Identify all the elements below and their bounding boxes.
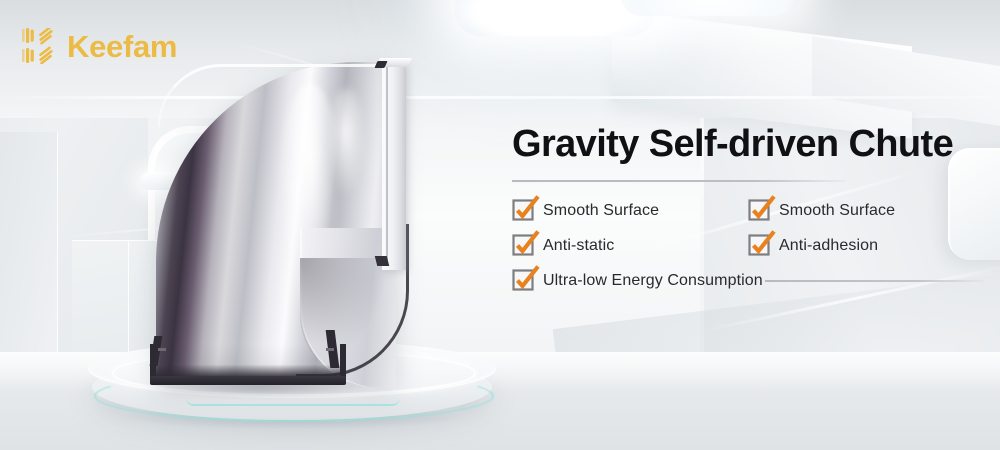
base-lug	[326, 348, 334, 351]
feature-label: Anti-static	[543, 237, 614, 255]
feature-item: Smooth Surface	[512, 200, 748, 221]
ceiling-light-panel	[620, 0, 800, 16]
product-banner: Keefam Gravity Self-driven Chute Smooth …	[0, 0, 1000, 450]
checkmark-icon	[748, 235, 770, 256]
page-title: Gravity Self-driven Chute	[512, 124, 984, 164]
base-foot-rail	[150, 376, 346, 385]
feature-divider	[765, 280, 984, 282]
feature-label: Anti-adhesion	[779, 237, 878, 255]
feature-label: Smooth Surface	[779, 202, 895, 220]
feature-row: Anti-static Anti-adhesion	[512, 235, 984, 256]
feature-label: Smooth Surface	[543, 202, 659, 220]
flange-corner-detail	[375, 256, 389, 266]
title-divider	[512, 180, 846, 182]
brand-logo[interactable]: Keefam	[22, 28, 177, 64]
feature-item: Smooth Surface	[748, 200, 984, 221]
feature-row: Smooth Surface Smooth Surface	[512, 200, 984, 221]
feature-item: Anti-adhesion	[748, 235, 984, 256]
checkmark-icon	[512, 235, 534, 256]
checkmark-icon	[512, 270, 534, 291]
feature-row: Ultra-low Energy Consumption	[512, 270, 984, 291]
base-lug	[158, 348, 166, 351]
content-block: Gravity Self-driven Chute Smooth Surface	[512, 124, 984, 291]
feature-item: Anti-static	[512, 235, 748, 256]
checkmark-icon	[512, 200, 534, 221]
flange-seam	[386, 66, 388, 266]
checkmark-icon	[748, 200, 770, 221]
keefam-grid-mark-icon	[22, 28, 56, 64]
feature-list: Smooth Surface Smooth Surface	[512, 200, 984, 291]
feature-label: Ultra-low Energy Consumption	[543, 272, 763, 290]
feature-item: Ultra-low Energy Consumption	[512, 270, 763, 291]
product-image-gravity-chute	[150, 58, 450, 388]
brand-name: Keefam	[67, 31, 177, 62]
chute-outer-rim	[158, 64, 392, 127]
